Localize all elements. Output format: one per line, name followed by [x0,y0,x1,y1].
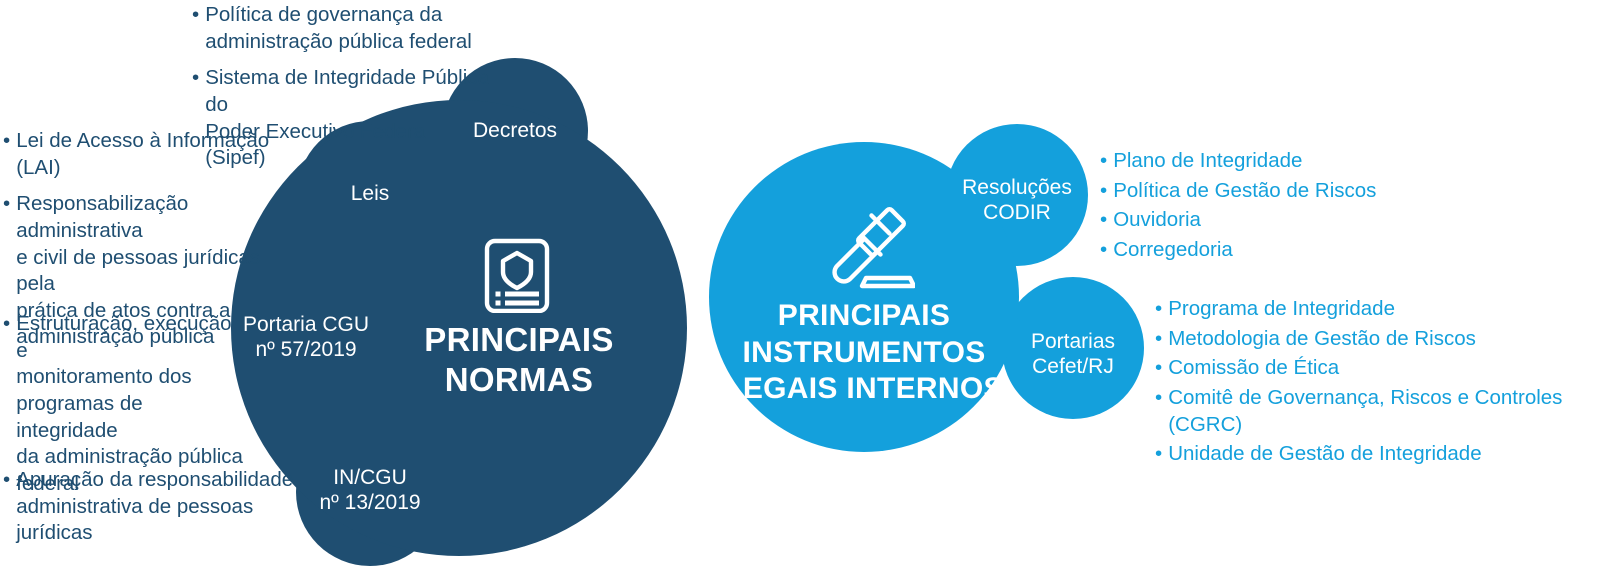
bullet-dot-icon: • [1100,207,1107,234]
bullet-item: • Comissão de Ética [1155,355,1605,382]
bullet-dot-icon: • [1155,441,1162,468]
bullet-item: • Ouvidoria [1100,207,1400,234]
bubble-hub-instrumentos-legais[interactable] [709,142,1019,452]
bullet-dot-icon: • [3,191,10,218]
bullet-dot-icon: • [1155,326,1162,353]
annotation-in-cgu-notes: • Apuração da responsabilidade administr… [3,467,303,547]
bubble-portarias-cefet[interactable] [1002,277,1144,419]
bullet-item: • Política de Gestão de Riscos [1100,178,1400,205]
bullet-label: Unidade de Gestão de Integridade [1168,441,1605,468]
bullet-item: • Corregedoria [1100,237,1400,264]
bullet-label: Programa de Integridade [1168,296,1605,323]
bullet-item: • Plano de Integridade [1100,148,1400,175]
bullet-dot-icon: • [1155,296,1162,323]
bullet-dot-icon: • [1100,237,1107,264]
bullet-dot-icon: • [1100,148,1107,175]
bullet-item: • Lei de Acesso à Informação (LAI) [3,128,295,181]
annotation-resolucoes-codir-notes: • Plano de Integridade • Política de Ges… [1100,148,1400,267]
bullet-label: Política de Gestão de Riscos [1113,178,1400,205]
bullet-label: Corregedoria [1113,237,1400,264]
bullet-item: • Comitê de Governança, Riscos e Control… [1155,385,1605,438]
bullet-item: • Metodologia de Gestão de Riscos [1155,326,1605,353]
bullet-dot-icon: • [3,467,10,494]
bullet-label: Comissão de Ética [1168,355,1605,382]
bullet-dot-icon: • [3,311,10,338]
bullet-label: Comitê de Governança, Riscos e Controles… [1168,385,1605,438]
bullet-label: Política de governança da administração … [205,2,492,55]
bullet-dot-icon: • [1155,355,1162,382]
bullet-label: Ouvidoria [1113,207,1400,234]
bullet-item: • Política de governança da administraçã… [192,2,492,55]
bullet-item: • Apuração da responsabilidade administr… [3,467,303,547]
bullet-label: Apuração da responsabilidade administrat… [16,467,303,547]
right-cluster-shapes [709,124,1144,452]
annotation-portarias-cefet-notes: • Programa de Integridade • Metodologia … [1155,296,1605,471]
bullet-dot-icon: • [192,65,199,92]
bullet-label: Lei de Acesso à Informação (LAI) [16,128,295,181]
bullet-dot-icon: • [3,128,10,155]
bullet-dot-icon: • [1100,178,1107,205]
infographic-canvas: Decretos Leis Portaria CGU nº 57/2019 IN… [0,0,1609,580]
bullet-label: Metodologia de Gestão de Riscos [1168,326,1605,353]
bullet-dot-icon: • [1155,385,1162,412]
bullet-item: • Programa de Integridade [1155,296,1605,323]
bullet-label: Plano de Integridade [1113,148,1400,175]
bullet-dot-icon: • [192,2,199,29]
bullet-item: • Unidade de Gestão de Integridade [1155,441,1605,468]
